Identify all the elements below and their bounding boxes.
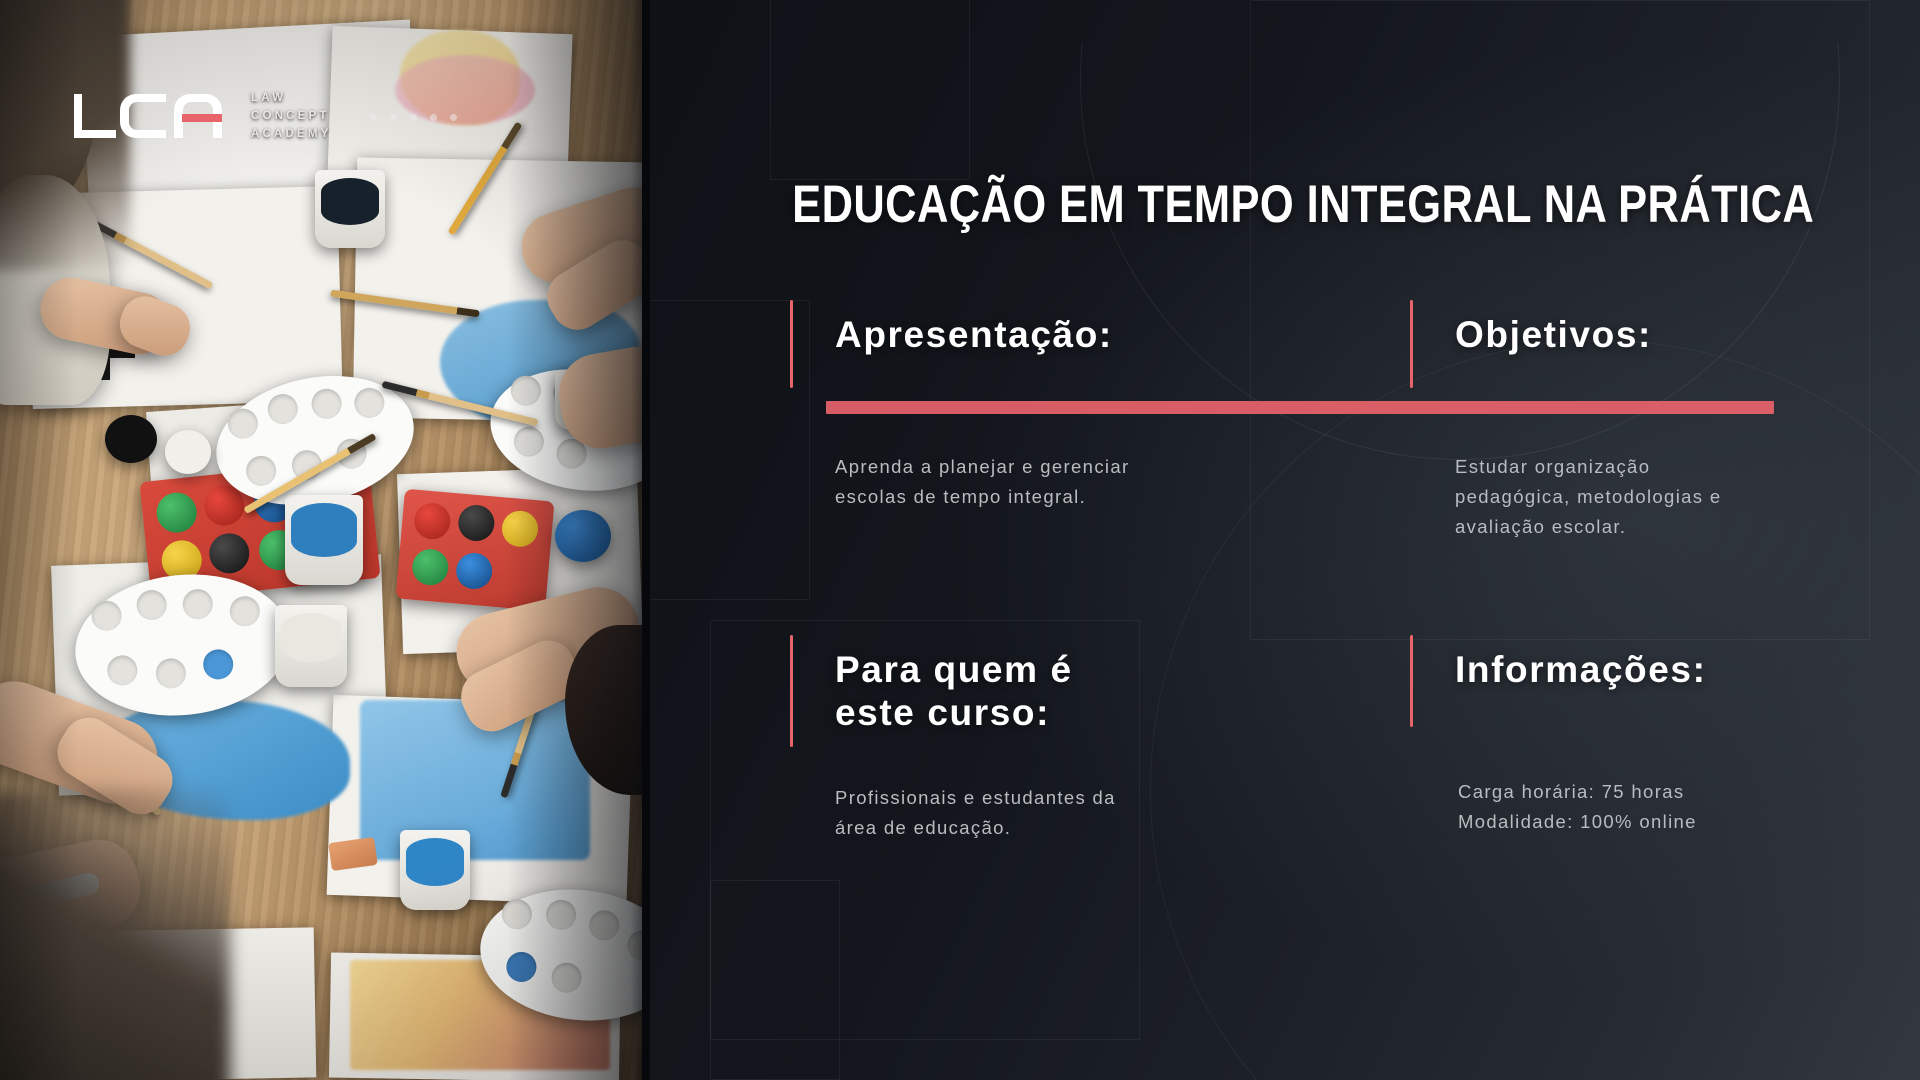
card-body: Aprenda a planejar e gerenciar escolas d… (790, 452, 1210, 512)
card-body: Estudar organização pedagógica, metodolo… (1410, 452, 1830, 542)
cards-grid: Apresentação: Aprenda a planejar e geren… (650, 300, 1920, 935)
card-informacoes: Informações: Carga horária: 75 horas Mod… (1370, 635, 1920, 935)
accent-bar (1410, 635, 1413, 727)
course-photo: LAW CONCEPT ACADEMY (0, 0, 650, 1080)
accent-bar (790, 300, 793, 388)
lca-logo-icon (70, 88, 225, 144)
card-header: Objetivos: (1410, 300, 1920, 388)
card-title: Para quem é este curso: (835, 635, 1073, 747)
card-apresentacao: Apresentação: Aprenda a planejar e geren… (790, 300, 1370, 635)
page-title: EDUCAÇÃO EM TEMPO INTEGRAL NA PRÁTICA (792, 178, 1814, 231)
card-header: Para quem é este curso: (790, 635, 1370, 747)
accent-bar (790, 635, 793, 747)
card-body: Carga horária: 75 horas Modalidade: 100%… (1410, 777, 1830, 837)
card-body: Profissionais e estudantes da área de ed… (790, 783, 1210, 843)
accent-bar (1410, 300, 1413, 388)
logo-line-academy: ACADEMY (251, 128, 332, 140)
photo-edge-shadow (642, 0, 650, 1080)
card-header: Apresentação: (790, 300, 1370, 388)
course-slide: LAW CONCEPT ACADEMY EDUCAÇÃO EM TEMPO IN… (0, 0, 1920, 1080)
card-header: Informações: (1410, 635, 1920, 727)
card-title: Informações: (1455, 635, 1707, 727)
brand-logo: LAW CONCEPT ACADEMY (70, 88, 332, 144)
logo-line-concept: CONCEPT (251, 110, 332, 122)
decorative-rect (770, 0, 970, 180)
card-para-quem: Para quem é este curso: Profissionais e … (790, 635, 1370, 935)
card-title: Objetivos: (1455, 300, 1652, 388)
logo-line-law: LAW (251, 92, 332, 104)
photo-vignette (0, 0, 650, 1080)
card-title: Apresentação: (835, 300, 1113, 388)
logo-dots (370, 114, 457, 121)
slide-title-block: EDUCAÇÃO EM TEMPO INTEGRAL NA PRÁTICA (680, 178, 1920, 231)
brand-wordmark: LAW CONCEPT ACADEMY (251, 92, 332, 140)
card-objetivos: Objetivos: Estudar organização pedagógic… (1370, 300, 1920, 635)
content-panel: EDUCAÇÃO EM TEMPO INTEGRAL NA PRÁTICA Ap… (650, 0, 1920, 1080)
